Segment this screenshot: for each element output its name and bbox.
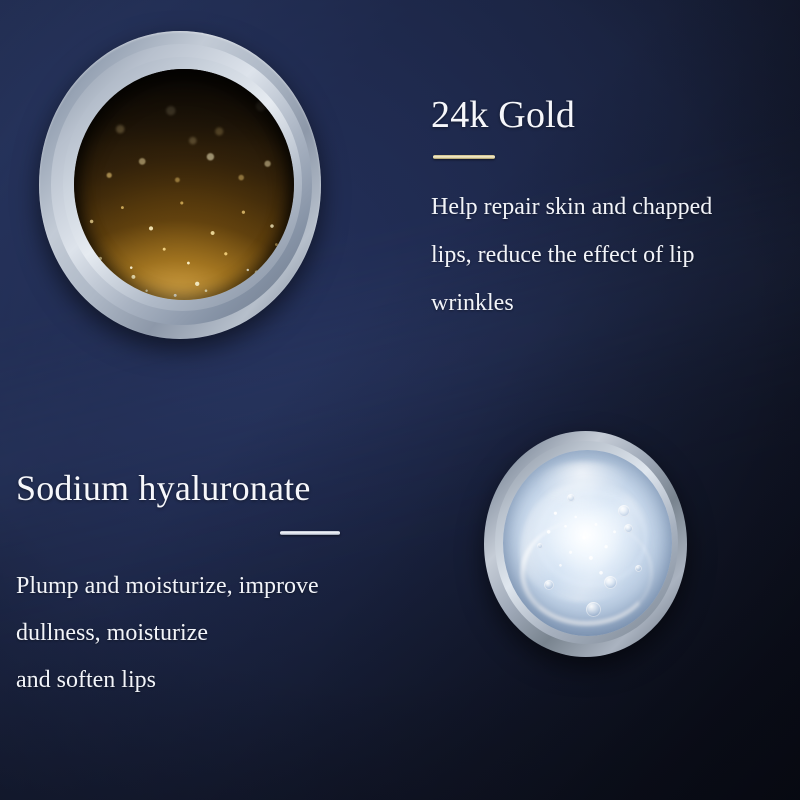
- gel-bubble: [635, 565, 642, 572]
- gold-divider: [433, 155, 495, 159]
- product-feature-banner: 24k Gold Help repair skin and chapped li…: [0, 0, 800, 800]
- gel-bubble: [544, 580, 554, 590]
- gel-bubble: [537, 543, 543, 549]
- hyaluronic-gel-jar-image: [484, 431, 687, 657]
- gel-bubble: [618, 505, 630, 517]
- gold-body-line-3: wrinkles: [431, 279, 799, 327]
- gold-body-line-2: lips, reduce the effect of lip: [431, 231, 799, 279]
- gold-top-shadow: [74, 69, 294, 300]
- sodium-divider: [280, 531, 340, 535]
- gold-glitter-jar-image: [39, 31, 321, 339]
- gel-fill: [503, 450, 672, 636]
- gold-feature-text: 24k Gold Help repair skin and chapped li…: [431, 93, 799, 327]
- gel-bubble: [586, 602, 601, 617]
- gold-glitter-fill: [74, 69, 294, 300]
- gold-body-line-1: Help repair skin and chapped: [431, 183, 799, 231]
- sodium-body-line-3: and soften lips: [16, 657, 436, 704]
- sodium-body-line-1: Plump and moisturize, improve: [16, 563, 436, 610]
- sodium-body-line-2: dullness, moisturize: [16, 610, 436, 657]
- sodium-heading: Sodium hyaluronate: [16, 467, 436, 509]
- gold-body: Help repair skin and chapped lips, reduc…: [431, 183, 799, 327]
- sodium-body: Plump and moisturize, improve dullness, …: [16, 563, 436, 704]
- gold-heading: 24k Gold: [431, 93, 799, 137]
- sodium-feature-text: Sodium hyaluronate Plump and moisturize,…: [16, 467, 436, 704]
